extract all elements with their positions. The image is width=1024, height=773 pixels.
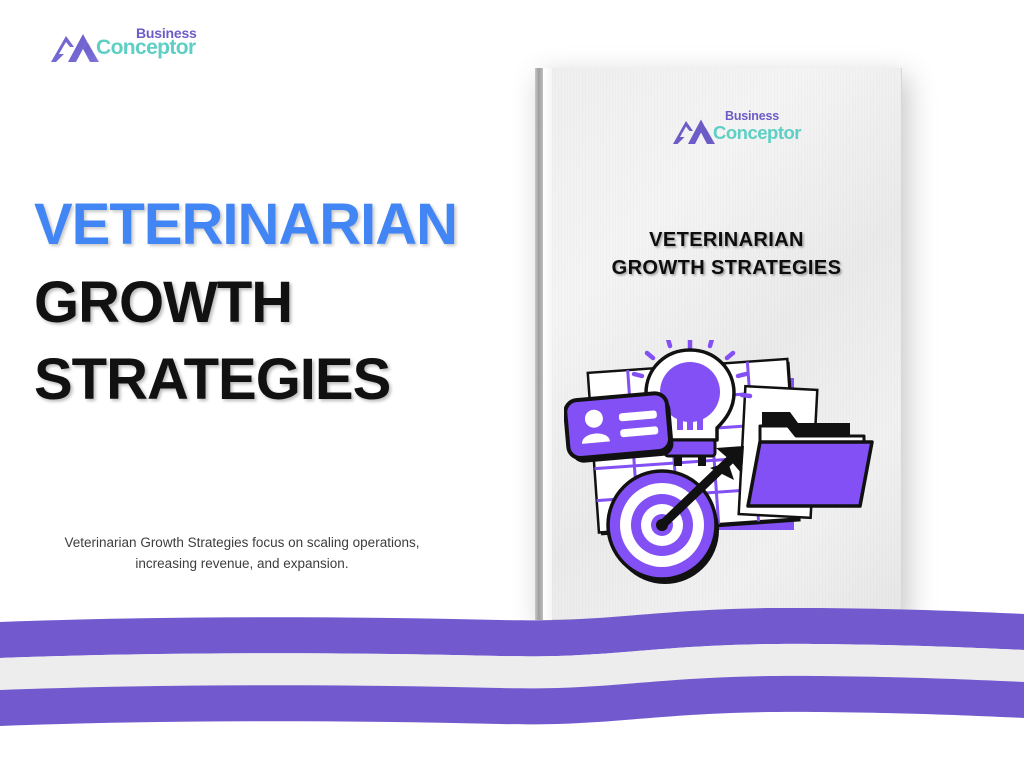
brand-wordmark: Business Conceptor: [96, 22, 216, 68]
headline-line-1: VETERINARIAN: [34, 186, 504, 264]
book-logo-name-bottom: Conceptor: [713, 122, 801, 144]
book-spine-edge: [535, 68, 543, 620]
business-growth-illustration: [564, 340, 890, 588]
brand-name-bottom: Conceptor: [96, 37, 216, 58]
book-mockup[interactable]: Business Conceptor VETERINARIAN GROWTH S…: [535, 68, 902, 620]
page-title: VETERINARIAN GROWTH STRATEGIES: [34, 186, 504, 419]
book-logo-name-top: Business: [725, 109, 779, 123]
brand-logo[interactable]: Business Conceptor: [50, 22, 210, 68]
book-title-line-1: VETERINARIAN: [552, 226, 901, 254]
folder-icon: [748, 412, 872, 506]
subtitle-text: Veterinarian Growth Strategies focus on …: [42, 532, 442, 575]
headline-line-3: STRATEGIES: [34, 341, 504, 419]
headline-line-2: GROWTH: [34, 264, 504, 342]
book-spine-highlight: [543, 68, 552, 620]
book-title-line-2: GROWTH STRATEGIES: [552, 254, 901, 282]
footer-wave-decoration: [0, 608, 1024, 768]
book-cover-logo: Business Conceptor: [672, 108, 817, 150]
book-cover-title: VETERINARIAN GROWTH STRATEGIES: [552, 226, 901, 283]
book-cover: Business Conceptor VETERINARIAN GROWTH S…: [552, 68, 902, 620]
id-card-icon: [564, 392, 674, 464]
